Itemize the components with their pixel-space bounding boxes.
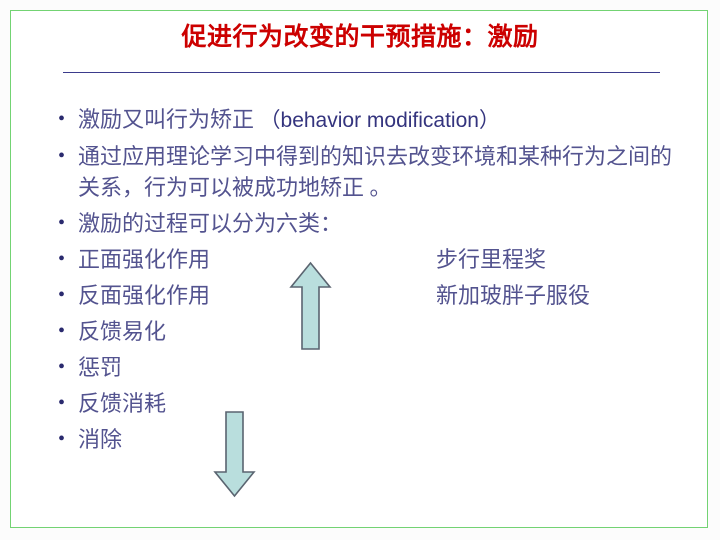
page-title: 促进行为改变的干预措施：激励 — [0, 22, 720, 52]
up-arrow-icon — [289, 261, 332, 351]
list-item[interactable]: • 反馈易化 — [52, 316, 692, 347]
bullet-list: • 激励又叫行为矫正 （behavior modification） • 通过应… — [52, 104, 692, 460]
list-item-body: 惩罚 — [78, 352, 692, 383]
list-item[interactable]: • 正面强化作用 步行里程奖 — [52, 244, 692, 275]
list-item-label: 消除 — [78, 427, 122, 452]
list-item[interactable]: • 通过应用理论学习中得到的知识去改变环境和某种行为之间的关系，行为可以被成功地… — [52, 141, 692, 203]
list-item[interactable]: • 激励的过程可以分为六类： — [52, 208, 692, 239]
list-item-example-label: 步行里程奖 — [436, 244, 692, 275]
list-item[interactable]: • 激励又叫行为矫正 （behavior modification） — [52, 104, 692, 136]
list-item-body: 激励的过程可以分为六类： — [78, 208, 692, 239]
list-item-body: 通过应用理论学习中得到的知识去改变环境和某种行为之间的关系，行为可以被成功地矫正… — [78, 141, 692, 203]
list-item[interactable]: • 反面强化作用 新加玻胖子服役 — [52, 280, 692, 311]
bullet-marker-icon: • — [52, 244, 78, 275]
bullet-marker-icon: • — [52, 352, 78, 383]
title-divider-rule — [63, 72, 660, 73]
list-item-label: 激励又叫行为矫正 — [78, 107, 260, 132]
list-item-label: 反馈消耗 — [78, 391, 166, 416]
bullet-marker-icon: • — [52, 424, 78, 455]
list-item-body: 反面强化作用 新加玻胖子服役 — [78, 280, 692, 311]
list-item[interactable]: • 惩罚 — [52, 352, 692, 383]
list-item-label: 激励的过程可以分为六类： — [78, 211, 342, 236]
bullet-marker-icon: • — [52, 388, 78, 419]
bullet-marker-icon: • — [52, 141, 78, 172]
bullet-marker-icon: • — [52, 208, 78, 239]
slide-canvas: 促进行为改变的干预措施：激励 • 激励又叫行为矫正 （behavior modi… — [0, 0, 720, 540]
list-item-latin-label: （behavior modification） — [260, 109, 500, 132]
list-item-label: 正面强化作用 — [78, 244, 436, 275]
list-item[interactable]: • 消除 — [52, 424, 692, 455]
list-item-body: 激励又叫行为矫正 （behavior modification） — [78, 104, 692, 136]
bullet-marker-icon: • — [52, 104, 78, 135]
list-item-body: 正面强化作用 步行里程奖 — [78, 244, 692, 275]
list-item-label: 反面强化作用 — [78, 280, 436, 311]
bullet-marker-icon: • — [52, 280, 78, 311]
list-item-example-label: 新加玻胖子服役 — [436, 280, 692, 311]
list-item-body: 反馈易化 — [78, 316, 692, 347]
list-item[interactable]: • 反馈消耗 — [52, 388, 692, 419]
list-item-body: 消除 — [78, 424, 692, 455]
down-arrow-icon — [213, 410, 256, 498]
list-item-label: 通过应用理论学习中得到的知识去改变环境和某种行为之间的关系，行为可以被成功地矫正… — [78, 144, 672, 200]
list-item-label: 反馈易化 — [78, 319, 166, 344]
list-item-label: 惩罚 — [78, 355, 122, 380]
bullet-marker-icon: • — [52, 316, 78, 347]
list-item-body: 反馈消耗 — [78, 388, 692, 419]
